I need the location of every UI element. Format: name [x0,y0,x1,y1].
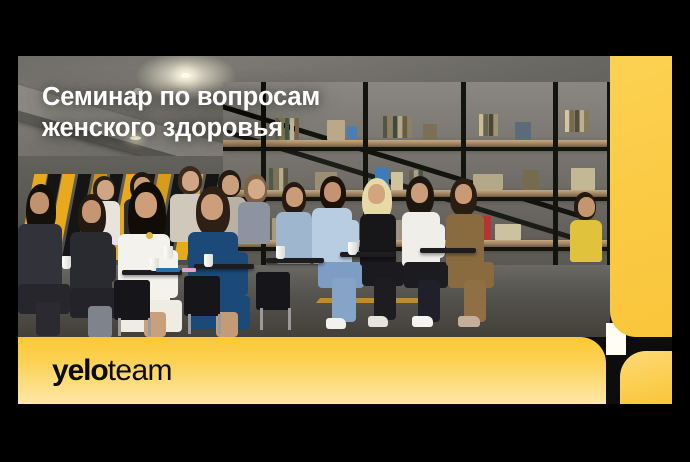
banner-title-line-2: женского здоровья [42,113,412,144]
photo-desk-2 [194,264,254,269]
photo-paper [182,268,196,272]
yeloteam-logo[interactable]: yeloteam [52,356,172,386]
logo-mark: yelo [52,356,108,386]
bottom-right-accent-block [620,351,672,404]
photo-cup-6 [348,242,357,255]
photo-chair-3 [256,272,290,310]
photo-cup-4 [204,254,213,267]
photo-cup-1 [62,256,71,269]
photo-chair-1 [114,280,150,320]
photo-notebook [156,268,180,272]
banner-title: Семинар по вопросам женского здоровья [42,82,412,144]
photo-desk-3 [266,258,324,263]
banner-title-line-1: Семинар по вопросам [42,82,412,113]
promo-banner-card[interactable]: Семинар по вопросам женского здоровья ye… [18,56,672,404]
photo-cup-3 [164,246,173,259]
photo-desk-5 [420,248,476,253]
banner-stage: Семинар по вопросам женского здоровья ye… [0,0,690,462]
right-accent-panel [610,56,672,337]
photo-chair-2 [184,276,220,316]
logo-word: team [108,356,172,386]
photo-cup-5 [276,246,285,259]
photo-spotlight [181,73,190,78]
